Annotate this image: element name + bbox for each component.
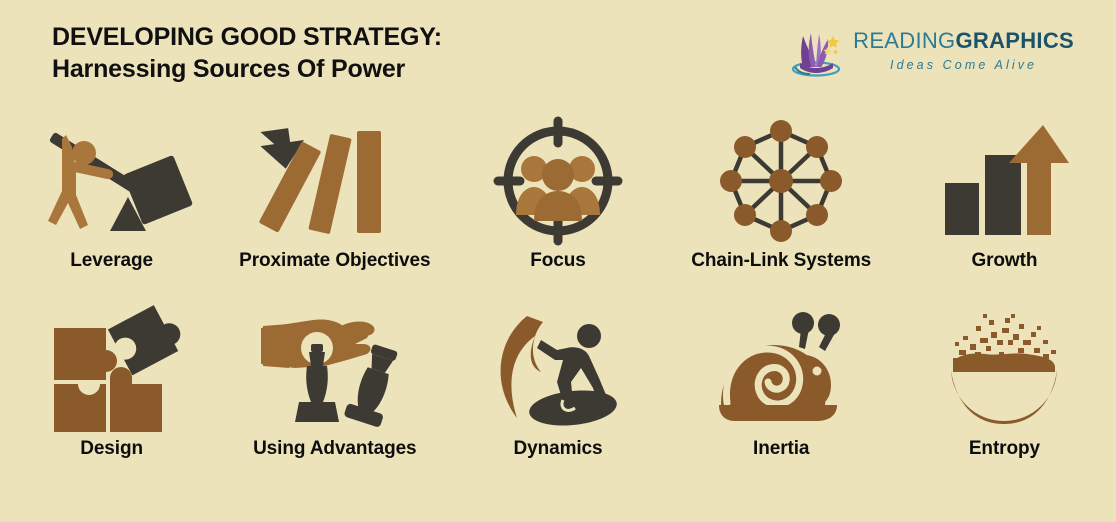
header: DEVELOPING GOOD STRATEGY: Harnessing Sou…: [0, 0, 1116, 110]
cell-label: Inertia: [753, 438, 809, 460]
cell-label: Using Advantages: [253, 438, 416, 460]
icon-row-1: Leverage Proximate Objectives: [0, 118, 1116, 314]
cell-label: Leverage: [70, 250, 153, 272]
cell-dynamics: Dynamics: [446, 306, 669, 502]
infographic-canvas: DEVELOPING GOOD STRATEGY: Harnessing Sou…: [0, 0, 1116, 522]
snail-icon: [670, 306, 893, 432]
cell-label: Entropy: [969, 438, 1040, 460]
cell-using-advantages: Using Advantages: [223, 306, 446, 502]
cell-chain-link-systems: Chain-Link Systems: [670, 118, 893, 314]
cell-label: Design: [80, 438, 143, 460]
page-title: DEVELOPING GOOD STRATEGY: Harnessing Sou…: [52, 22, 442, 85]
cell-label: Proximate Objectives: [239, 250, 430, 272]
cell-growth: Growth: [893, 118, 1116, 314]
cell-label: Growth: [971, 250, 1037, 272]
lever-fulcrum-icon: [0, 118, 223, 244]
falling-dominoes-icon: [223, 118, 446, 244]
surfer-wave-icon: [446, 306, 669, 432]
logo-text: READINGGRAPHICS Ideas Come Alive: [853, 30, 1074, 72]
cell-entropy: Entropy: [893, 306, 1116, 502]
icon-row-2: Design: [0, 306, 1116, 502]
cell-label: Focus: [530, 250, 585, 272]
hand-chess-piece-icon: [223, 306, 446, 432]
title-line-1: DEVELOPING GOOD STRATEGY:: [52, 22, 442, 54]
bar-chart-arrow-up-icon: [893, 118, 1116, 244]
logo-tagline: Ideas Come Alive: [853, 58, 1074, 72]
network-nodes-icon: [670, 118, 893, 244]
cell-label: Chain-Link Systems: [691, 250, 871, 272]
cell-focus: Focus: [446, 118, 669, 314]
open-book-with-stars-logo-icon: [788, 23, 846, 79]
logo-word-light: READING: [853, 28, 955, 53]
title-line-2: Harnessing Sources Of Power: [52, 54, 442, 86]
brand-logo: READINGGRAPHICS Ideas Come Alive: [788, 22, 1074, 80]
cell-inertia: Inertia: [670, 306, 893, 502]
disintegrating-circle-icon: [893, 306, 1116, 432]
puzzle-pieces-icon: [0, 306, 223, 432]
crosshair-people-icon: [446, 118, 669, 244]
cell-proximate-objectives: Proximate Objectives: [223, 118, 446, 314]
cell-design: Design: [0, 306, 223, 502]
cell-label: Dynamics: [514, 438, 603, 460]
icon-grid: Leverage Proximate Objectives: [0, 110, 1116, 522]
cell-leverage: Leverage: [0, 118, 223, 314]
logo-wordmark: READINGGRAPHICS: [853, 30, 1074, 52]
logo-word-bold: GRAPHICS: [955, 28, 1074, 53]
